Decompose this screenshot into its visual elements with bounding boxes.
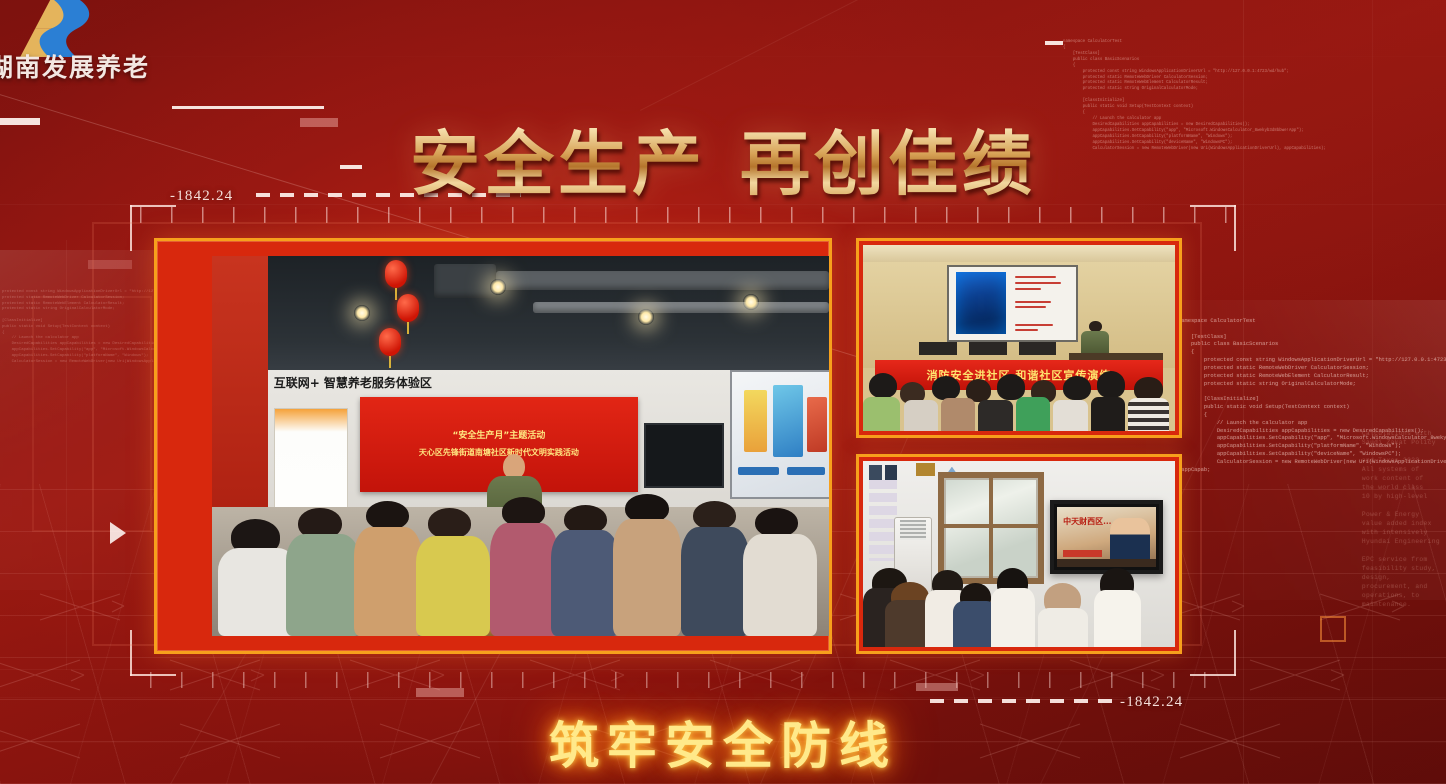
brand-name-text: 湖南发展养老 <box>0 48 150 84</box>
diagonal-line-2 <box>640 0 1442 111</box>
top-right-photo-card[interactable]: 消防安全进社区 和谐社区宣传演练 <box>856 238 1182 438</box>
marker-chip-8 <box>416 688 464 697</box>
ruler-top <box>140 207 1230 223</box>
marker-chip-7 <box>916 683 958 691</box>
ghost-image-right <box>1146 300 1446 600</box>
wall-title-text: 互联网+ 智慧养老服务体验区 <box>274 374 432 391</box>
frame-corner-bottom-right <box>1190 630 1236 676</box>
hairline-2 <box>0 669 1446 670</box>
slide-caption: 筑牢安全防线 <box>0 706 1446 778</box>
top-right-photo-image: 消防安全进社区 和谐社区宣传演练 <box>863 245 1175 431</box>
main-photo-card[interactable]: 互联网+ 智慧养老服务体验区 “安全生产月”主题活动 天心区先锋街道南塘社区新时… <box>154 238 832 654</box>
bottom-right-photo-card[interactable]: 中天财西区... <box>856 454 1182 654</box>
play-triangle-icon <box>110 522 126 544</box>
presentation-slide: -1842.24 -1842.24 namespace CalculatorTe… <box>0 0 1446 784</box>
frame-corner-top-right <box>1190 205 1236 251</box>
ruler-bottom <box>150 672 1230 688</box>
headline-part-1: 安全生产 <box>410 122 706 205</box>
marker-chip-6 <box>88 260 132 269</box>
hairline-3 <box>0 697 1446 698</box>
banner-line-1: “安全生产月”主题活动 <box>452 428 545 445</box>
dashed-line-bottom <box>930 699 1116 703</box>
marker-chip-5 <box>1045 41 1063 45</box>
marker-chip-9 <box>1320 616 1346 642</box>
code-overlay-right: namespace CalculatorTest { [TestClass] p… <box>1178 318 1446 475</box>
photo-collage: 互联网+ 智慧养老服务体验区 “安全生产月”主题活动 天心区先锋街道南塘社区新时… <box>154 238 1182 654</box>
hairline-5 <box>0 56 1446 57</box>
vhairline-3 <box>66 240 67 670</box>
tv-caption-text: 中天财西区... <box>1063 516 1111 527</box>
headline-part-2: 再创佳绩 <box>740 122 1036 205</box>
bottom-right-photo-image: 中天财西区... <box>863 461 1175 647</box>
page-title: 安全生产再创佳绩 <box>0 108 1446 209</box>
main-photo-image: 互联网+ 智慧养老服务体验区 “安全生产月”主题活动 天心区先锋街道南塘社区新时… <box>212 256 829 636</box>
code-overlay-right-lower: Calculations with Saudi Zakat Policy and… <box>1362 430 1440 610</box>
inner-red-frame-2 <box>32 296 152 532</box>
